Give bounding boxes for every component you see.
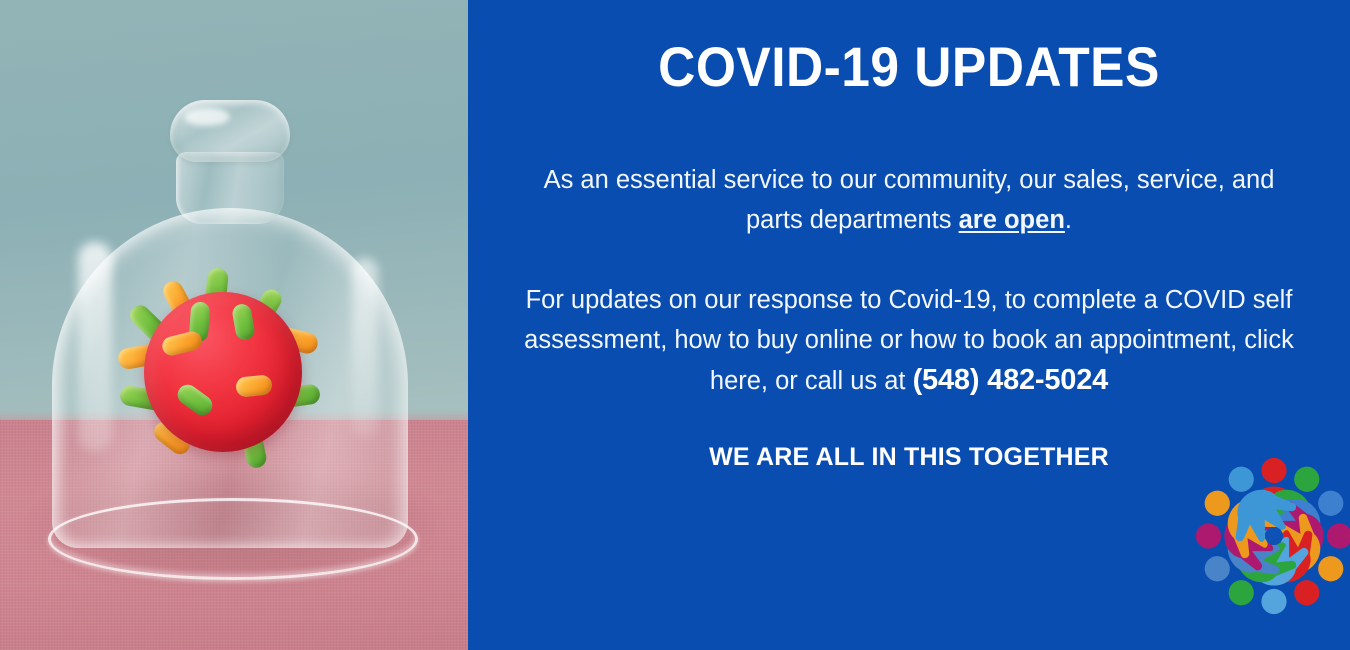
clay-virus-model bbox=[118, 268, 326, 476]
paragraph-1-text: As an essential service to our community… bbox=[544, 166, 1275, 234]
virus-body bbox=[144, 292, 302, 452]
cloche-neck bbox=[176, 152, 284, 224]
phone-number[interactable]: (548) 482-5024 bbox=[913, 364, 1109, 396]
paragraph-1-tail: . bbox=[1065, 206, 1072, 234]
page-title: COVID-19 UPDATES bbox=[503, 38, 1314, 97]
covid-update-banner: COVID-19 UPDATES As an essential service… bbox=[0, 0, 1350, 650]
are-open-emphasis: are open bbox=[959, 206, 1065, 234]
community-people-circle-logo bbox=[1190, 452, 1350, 620]
virus-photo bbox=[0, 0, 468, 650]
message-panel: COVID-19 UPDATES As an essential service… bbox=[468, 0, 1350, 650]
paragraph-2-text: For updates on our response to Covid-19,… bbox=[524, 286, 1294, 395]
paragraph-updates-contact: For updates on our response to Covid-19,… bbox=[514, 280, 1304, 401]
cloche-knob bbox=[170, 100, 290, 162]
paragraph-essential-service: As an essential service to our community… bbox=[514, 160, 1304, 240]
cloche-base-rim bbox=[48, 498, 418, 580]
message-body: As an essential service to our community… bbox=[514, 160, 1304, 401]
